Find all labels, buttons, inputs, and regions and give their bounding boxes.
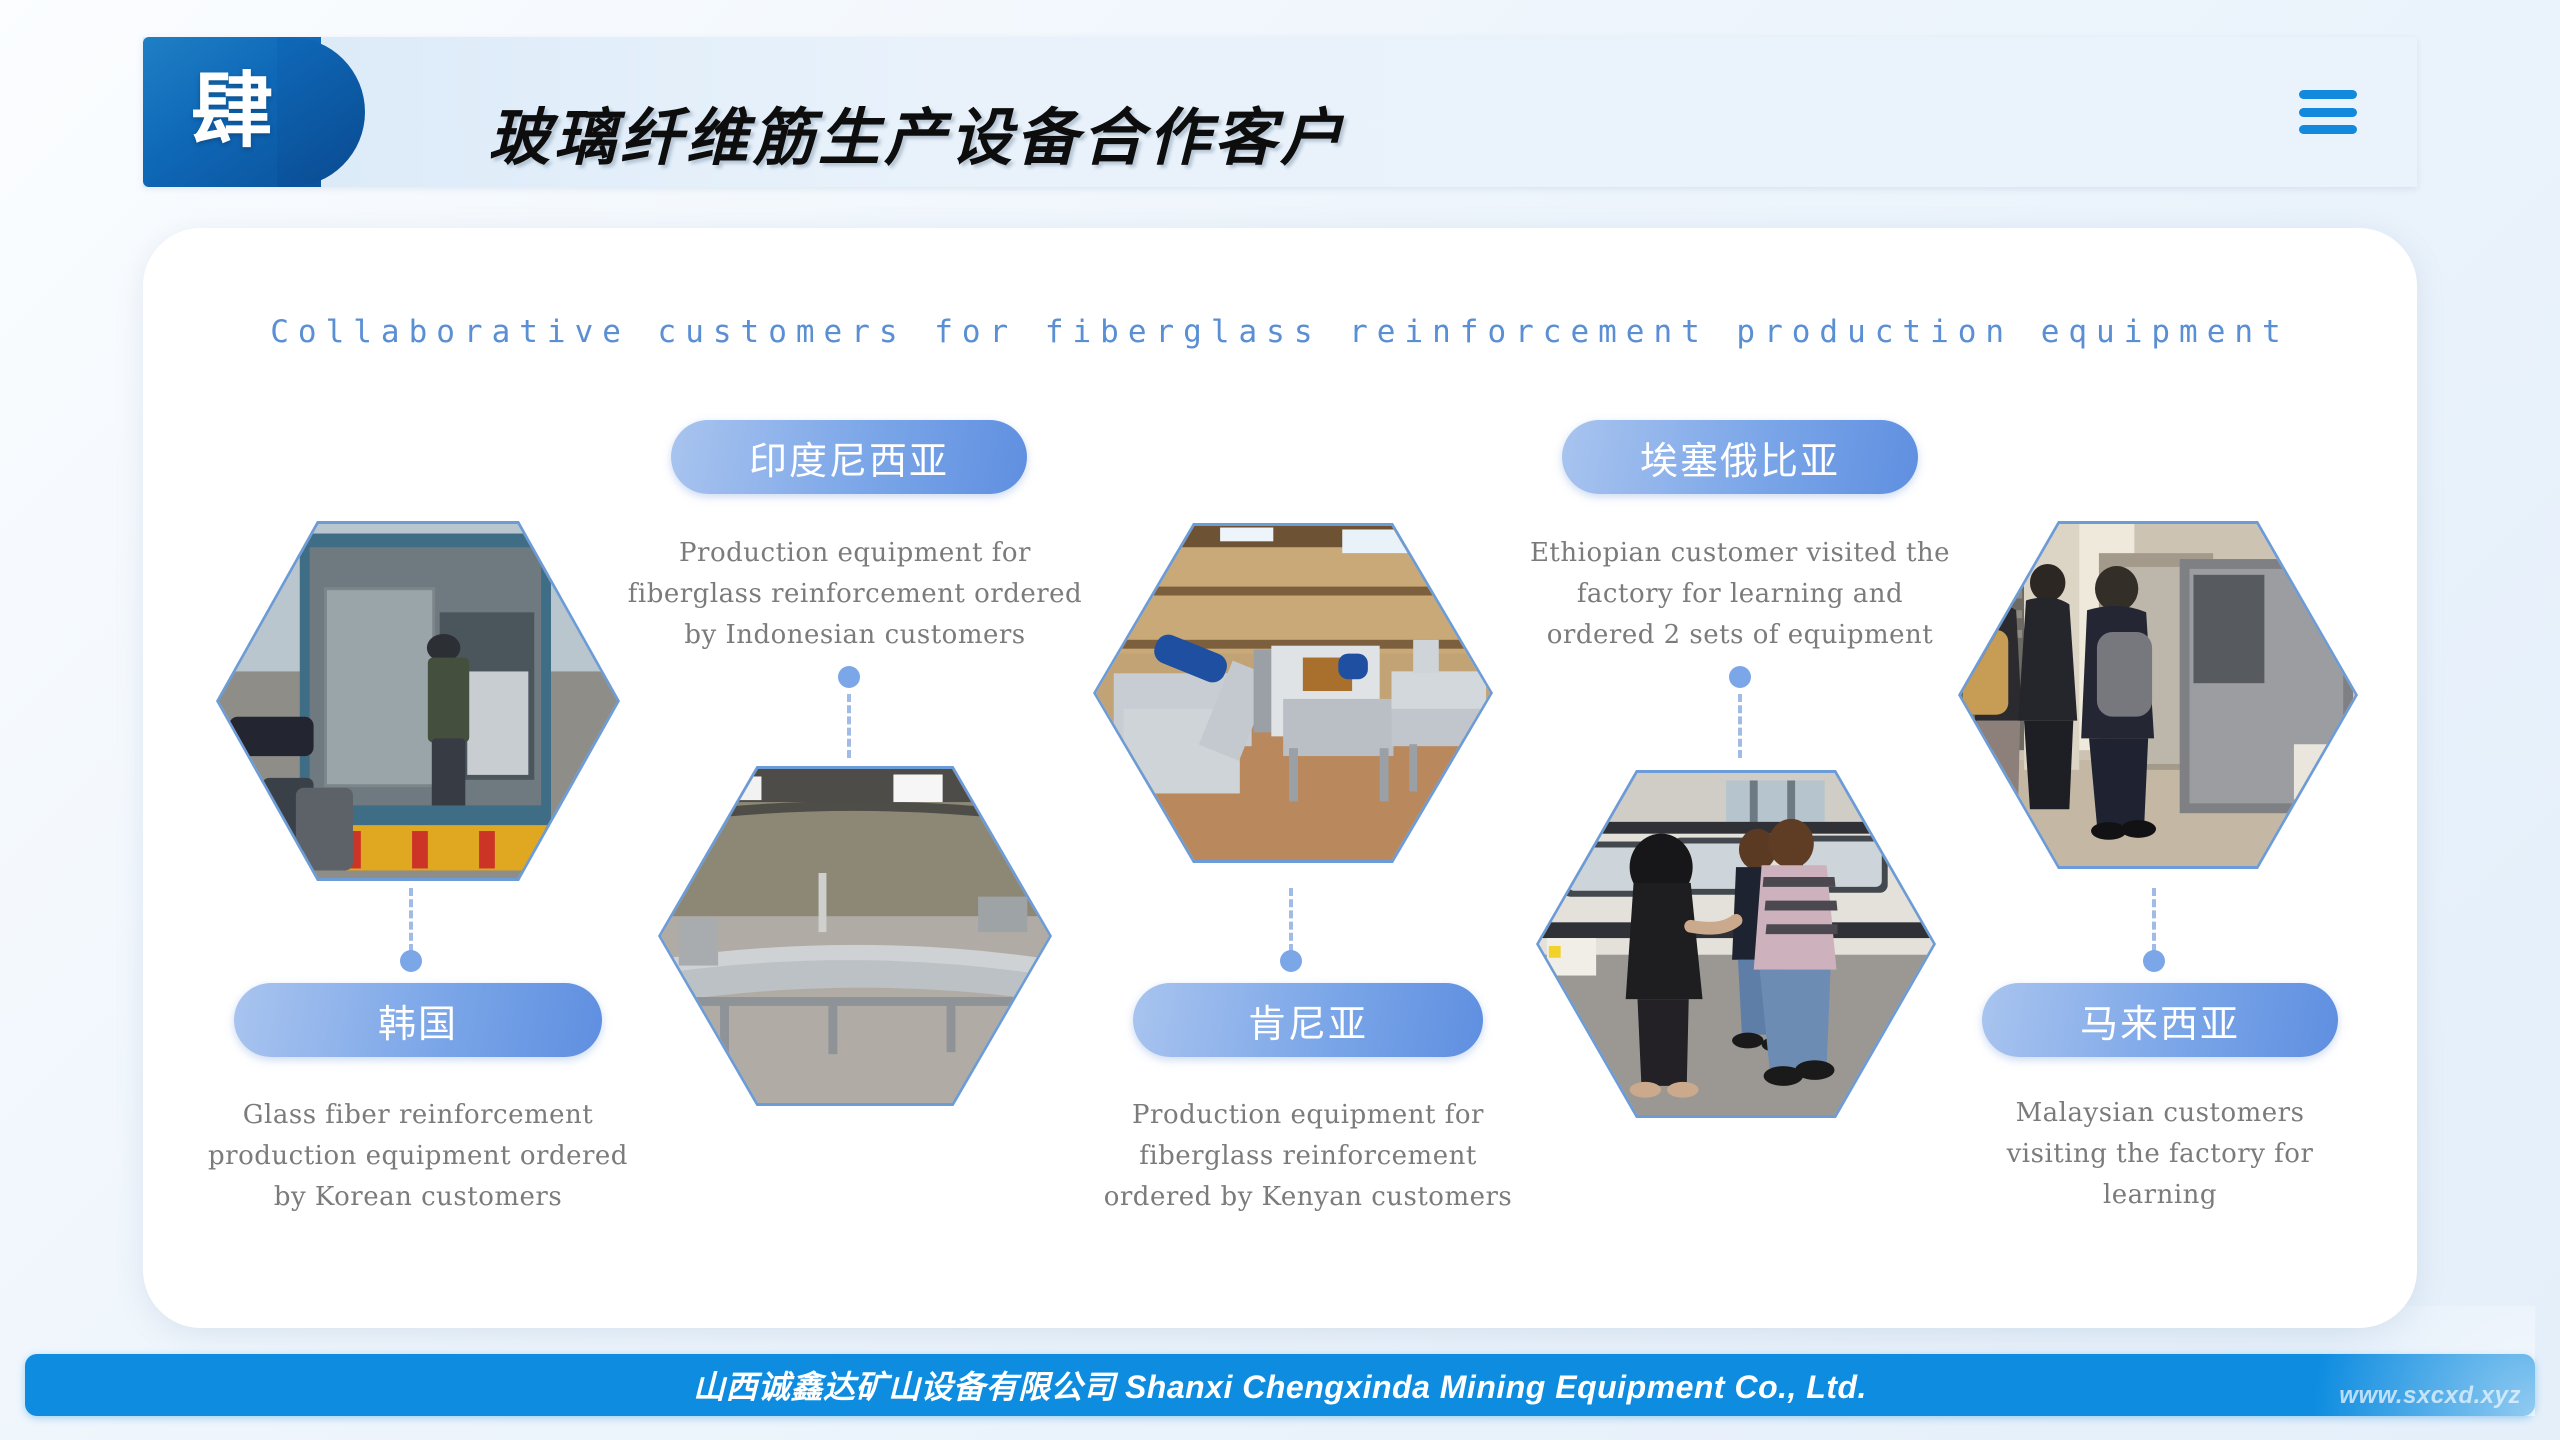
caption-kenya: Production equipment for fiberglass rein… — [1098, 1095, 1518, 1218]
country-label-malaysia-text: 马来西亚 — [2080, 993, 2240, 1048]
caption-ethiopia-text: Ethiopian customer visited the factory f… — [1530, 538, 1950, 650]
page-header: 肆 玻璃纤维筋生产设备合作客户 — [143, 37, 2417, 187]
page-title: 玻璃纤维筋生产设备合作客户 — [488, 87, 1346, 177]
connector-dot-malaysia — [2143, 950, 2165, 972]
country-label-ethiopia-text: 埃塞俄比亚 — [1640, 430, 1840, 485]
card-subtitle: Collaborative customers for fiberglass r… — [143, 314, 2417, 350]
caption-ethiopia: Ethiopian customer visited the factory f… — [1524, 533, 1956, 656]
hamburger-bar-3 — [2299, 125, 2357, 134]
connector-kenya — [1289, 888, 1296, 952]
country-label-korea-text: 韩国 — [378, 993, 458, 1048]
caption-korea-text: Glass fiber reinforcement production equ… — [208, 1100, 628, 1212]
country-label-kenya[interactable]: 肯尼亚 — [1133, 983, 1483, 1057]
connector-dot-indonesia — [838, 666, 860, 688]
country-label-kenya-text: 肯尼亚 — [1248, 993, 1368, 1048]
hamburger-menu-icon[interactable] — [2299, 90, 2357, 134]
connector-korea — [409, 888, 416, 952]
caption-malaysia: Malaysian customers visiting the factory… — [1970, 1093, 2350, 1216]
footer-bar: 山西诚鑫达矿山设备有限公司 Shanxi Chengxinda Mining E… — [25, 1354, 2535, 1416]
hamburger-bar-1 — [2299, 90, 2357, 99]
connector-dot-korea — [400, 950, 422, 972]
country-label-korea[interactable]: 韩国 — [234, 983, 602, 1057]
connector-dot-kenya — [1280, 950, 1302, 972]
connector-ethiopia — [1738, 694, 1745, 758]
hamburger-bar-2 — [2299, 108, 2357, 117]
caption-malaysia-text: Malaysian customers visiting the factory… — [2007, 1098, 2314, 1210]
country-label-malaysia[interactable]: 马来西亚 — [1982, 983, 2338, 1057]
company-name: 山西诚鑫达矿山设备有限公司 Shanxi Chengxinda Mining E… — [693, 1362, 1867, 1408]
connector-malaysia — [2152, 888, 2159, 952]
section-number-label: 肆 — [191, 71, 273, 153]
site-watermark: www.sxcxd.xyz — [2339, 1382, 2521, 1410]
connector-dot-ethiopia — [1729, 666, 1751, 688]
country-label-indonesia[interactable]: 印度尼西亚 — [671, 420, 1027, 494]
caption-kenya-text: Production equipment for fiberglass rein… — [1104, 1100, 1513, 1212]
country-label-ethiopia[interactable]: 埃塞俄比亚 — [1562, 420, 1918, 494]
caption-indonesia-text: Production equipment for fiberglass rein… — [628, 538, 1082, 650]
section-number-badge: 肆 — [143, 37, 321, 187]
caption-indonesia: Production equipment for fiberglass rein… — [625, 533, 1085, 656]
country-label-indonesia-text: 印度尼西亚 — [749, 430, 949, 485]
connector-indonesia — [847, 694, 854, 758]
caption-korea: Glass fiber reinforcement production equ… — [203, 1095, 633, 1218]
